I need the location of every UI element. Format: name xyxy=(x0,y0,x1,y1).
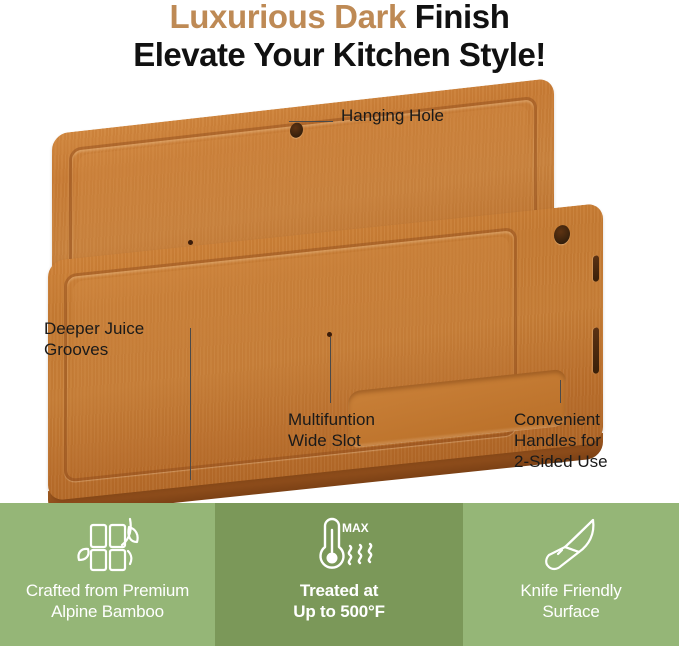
side-handle-lower xyxy=(593,327,599,374)
headline-accent-text: Luxurious Dark xyxy=(169,0,405,35)
hanging-hole-lower xyxy=(554,224,570,245)
product-image-stage: Hanging Hole Deeper Juice Grooves Multif… xyxy=(0,92,679,490)
callout-hanging-hole: Hanging Hole xyxy=(341,105,444,126)
leader-line-hanging-hole xyxy=(289,121,333,122)
headline-plain-text: Finish xyxy=(406,0,510,35)
callout-wide-slot: Multifuntion Wide Slot xyxy=(288,409,375,451)
thermometer-icon: MAX xyxy=(296,514,382,576)
leader-line-wide-slot xyxy=(330,337,331,403)
headline-line-1: Luxurious Dark Finish xyxy=(0,0,679,35)
feature-panel-temperature: MAX Treated at Up to 500°F xyxy=(215,503,463,646)
callout-handles: Convenient Handles for 2-Sided Use xyxy=(514,409,608,472)
infographic-page: Luxurious Dark Finish Elevate Your Kitch… xyxy=(0,0,679,646)
bamboo-icon xyxy=(70,514,146,576)
leader-line-juice-grooves xyxy=(190,328,191,480)
feature-label-bamboo: Crafted from Premium Alpine Bamboo xyxy=(26,580,189,622)
knife-icon xyxy=(535,514,607,576)
feature-panel-knife: Knife Friendly Surface xyxy=(463,503,679,646)
callout-juice-grooves: Deeper Juice Grooves xyxy=(44,318,144,360)
leader-dot-wide-slot xyxy=(327,332,332,337)
thermometer-max-badge: MAX xyxy=(342,521,369,535)
feature-label-temperature: Treated at Up to 500°F xyxy=(293,580,385,622)
headline-line-2: Elevate Your Kitchen Style! xyxy=(0,37,679,73)
side-handle-upper xyxy=(593,255,599,282)
leader-dot-juice-grooves xyxy=(188,240,193,245)
feature-bar: Crafted from Premium Alpine Bamboo MAX T… xyxy=(0,503,679,646)
headline-block: Luxurious Dark Finish Elevate Your Kitch… xyxy=(0,0,679,92)
leader-line-handles xyxy=(560,380,561,403)
feature-label-knife: Knife Friendly Surface xyxy=(520,580,621,622)
feature-panel-bamboo: Crafted from Premium Alpine Bamboo xyxy=(0,503,215,646)
